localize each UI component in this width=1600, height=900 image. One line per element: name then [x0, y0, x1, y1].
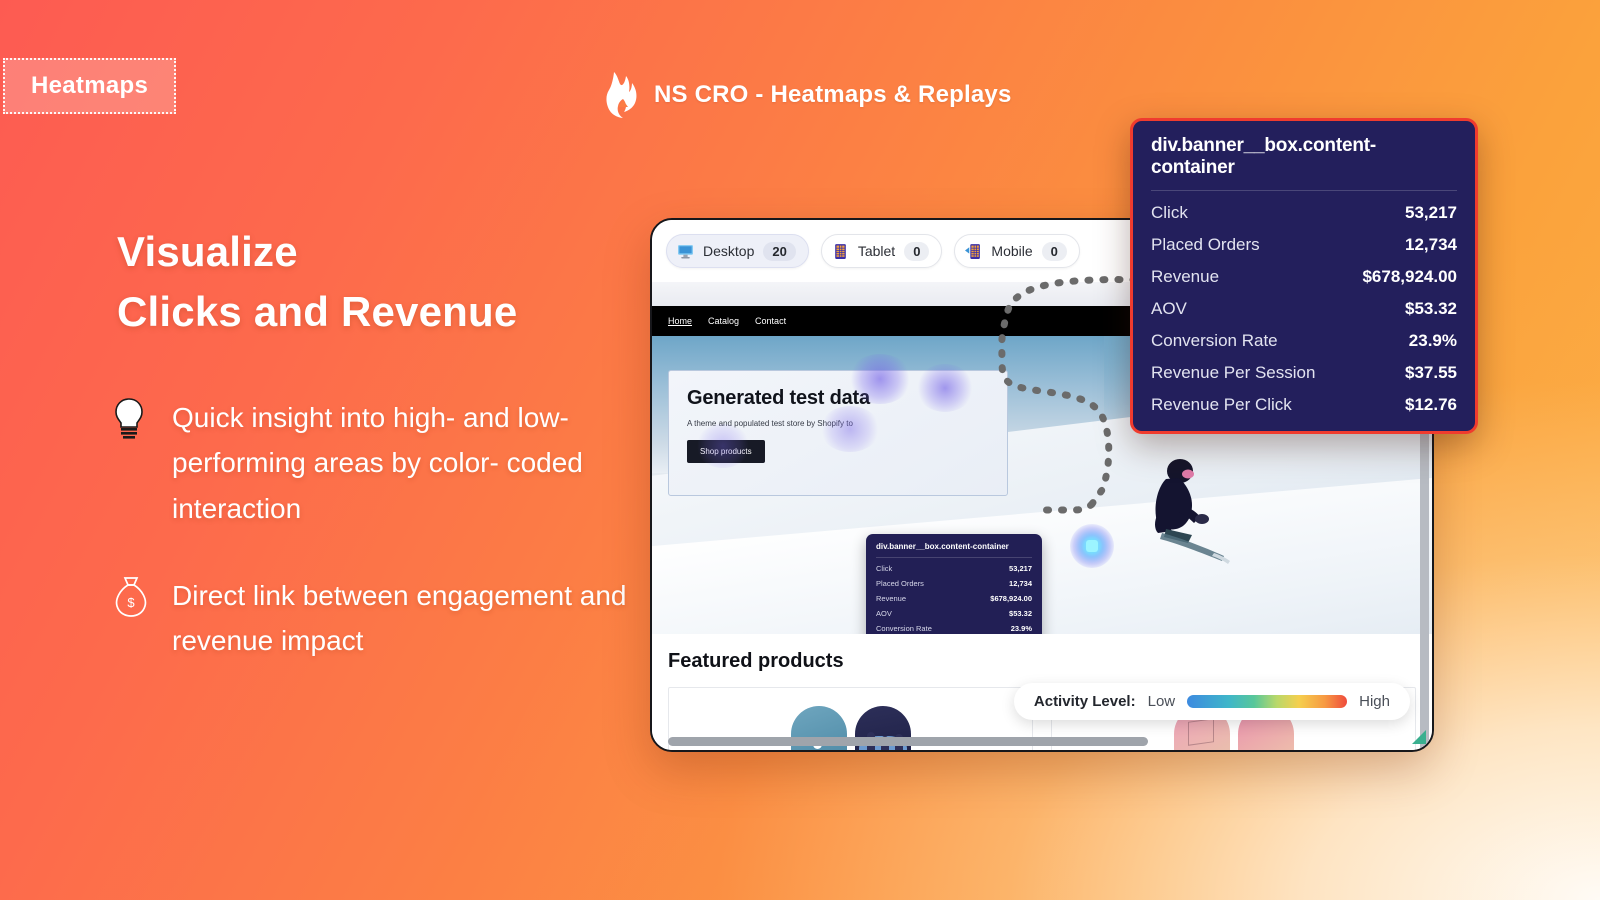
metric-key: Conversion Rate	[1151, 331, 1278, 351]
callout-row: Conversion Rate23.9%	[1151, 331, 1457, 351]
activity-level-legend: Activity Level: Low High	[1014, 683, 1410, 720]
metric-value: 12,734	[1009, 579, 1032, 588]
metric-value: 23.9%	[1011, 624, 1032, 633]
click-marker-core	[1086, 540, 1098, 552]
resize-handle-icon[interactable]	[1412, 730, 1426, 744]
vertical-scrollbar[interactable]	[1420, 430, 1429, 750]
metric-key: Revenue	[876, 594, 906, 603]
metric-key: Click	[876, 564, 892, 573]
metric-key: Click	[1151, 203, 1188, 223]
metric-key: Placed Orders	[1151, 235, 1260, 255]
lightbulb-icon	[112, 395, 154, 531]
list-item-label: Quick insight into high- and low-perform…	[172, 395, 652, 531]
metric-value: $12.76	[1405, 395, 1457, 415]
legend-label: Activity Level:	[1034, 693, 1136, 710]
list-item-label: Direct link between engagement and reven…	[172, 573, 652, 664]
snowboarder-image	[1136, 455, 1232, 565]
metric-key: Conversion Rate	[876, 624, 932, 633]
brand-logo: NS CRO - Heatmaps & Replays	[606, 72, 1012, 118]
inline-tooltip-row: Placed Orders12,734	[876, 579, 1032, 588]
desktop-icon	[677, 243, 694, 260]
tablet-icon	[832, 243, 849, 260]
callout-row: Placed Orders12,734	[1151, 235, 1457, 255]
inline-tooltip: div.banner__box.content-container Click5…	[866, 534, 1042, 634]
metric-value: 12,734	[1405, 235, 1457, 255]
device-tab-count: 0	[904, 242, 929, 261]
inline-tooltip-row: Conversion Rate23.9%	[876, 624, 1032, 633]
legend-high-label: High	[1359, 693, 1390, 710]
metric-value: 53,217	[1405, 203, 1457, 223]
metric-key: AOV	[1151, 299, 1187, 319]
headline-line-2: Clicks and Revenue	[117, 282, 517, 342]
metric-key: Placed Orders	[876, 579, 924, 588]
device-tab-label: Mobile	[991, 243, 1032, 259]
metric-value: $678,924.00	[1362, 267, 1457, 287]
device-tab-label: Desktop	[703, 243, 754, 259]
metric-key: Revenue Per Session	[1151, 363, 1315, 383]
device-tab-count: 0	[1042, 242, 1067, 261]
site-nav-contact[interactable]: Contact	[755, 316, 786, 326]
callout-row: Revenue Per Click$12.76	[1151, 395, 1457, 415]
banner-box: Generated test data A theme and populate…	[668, 370, 1008, 496]
banner-subtitle: A theme and populated test store by Shop…	[687, 419, 989, 428]
brand-name: NS CRO - Heatmaps & Replays	[654, 81, 1012, 109]
inline-tooltip-row: AOV$53.32	[876, 609, 1032, 618]
metric-value: $53.32	[1405, 299, 1457, 319]
metric-value: $37.55	[1405, 363, 1457, 383]
metrics-callout-panel: div.banner__box.content-container Click5…	[1130, 118, 1478, 434]
metric-value: $678,924.00	[990, 594, 1032, 603]
callout-row: Revenue Per Session$37.55	[1151, 363, 1457, 383]
device-tab-label: Tablet	[858, 243, 895, 259]
banner-title: Generated test data	[687, 387, 989, 410]
list-item: Quick insight into high- and low-perform…	[112, 395, 652, 531]
inline-tooltip-title: div.banner__box.content-container	[876, 542, 1032, 558]
callout-row: AOV$53.32	[1151, 299, 1457, 319]
site-nav-catalog[interactable]: Catalog	[708, 316, 739, 326]
horizontal-scrollbar[interactable]	[668, 737, 1148, 746]
device-tab-mobile[interactable]: Mobile 0	[954, 234, 1079, 268]
metric-value: 23.9%	[1409, 331, 1457, 351]
metric-key: Revenue	[1151, 267, 1219, 287]
mobile-icon	[965, 243, 982, 260]
device-tab-desktop[interactable]: Desktop 20	[666, 234, 809, 268]
shop-products-button[interactable]: Shop products	[687, 440, 765, 463]
device-tab-tablet[interactable]: Tablet 0	[821, 234, 943, 268]
callout-row: Click53,217	[1151, 203, 1457, 223]
money-bag-icon: $	[112, 573, 154, 664]
headline-line-1: Visualize	[117, 222, 517, 282]
heatmaps-badge: Heatmaps	[3, 58, 176, 114]
heatmaps-badge-label: Heatmaps	[31, 72, 148, 99]
device-tab-count: 20	[763, 242, 795, 261]
metric-value: 53,217	[1009, 564, 1032, 573]
callout-title: div.banner__box.content-container	[1151, 135, 1457, 191]
legend-low-label: Low	[1148, 693, 1176, 710]
inline-tooltip-row: Click53,217	[876, 564, 1032, 573]
svg-text:$: $	[127, 595, 135, 610]
click-marker[interactable]	[1070, 524, 1114, 568]
list-item: $ Direct link between engagement and rev…	[112, 573, 652, 664]
page-title: Visualize Clicks and Revenue	[117, 222, 517, 341]
site-nav-home[interactable]: Home	[668, 316, 692, 326]
inline-tooltip-row: Revenue$678,924.00	[876, 594, 1032, 603]
featured-products-title: Featured products	[668, 650, 1416, 673]
metric-value: $53.32	[1009, 609, 1032, 618]
metric-key: Revenue Per Click	[1151, 395, 1292, 415]
feature-list: Quick insight into high- and low-perform…	[112, 395, 652, 706]
metric-key: AOV	[876, 609, 892, 618]
legend-gradient-bar	[1187, 695, 1347, 708]
flame-icon	[606, 72, 640, 118]
callout-row: Revenue$678,924.00	[1151, 267, 1457, 287]
